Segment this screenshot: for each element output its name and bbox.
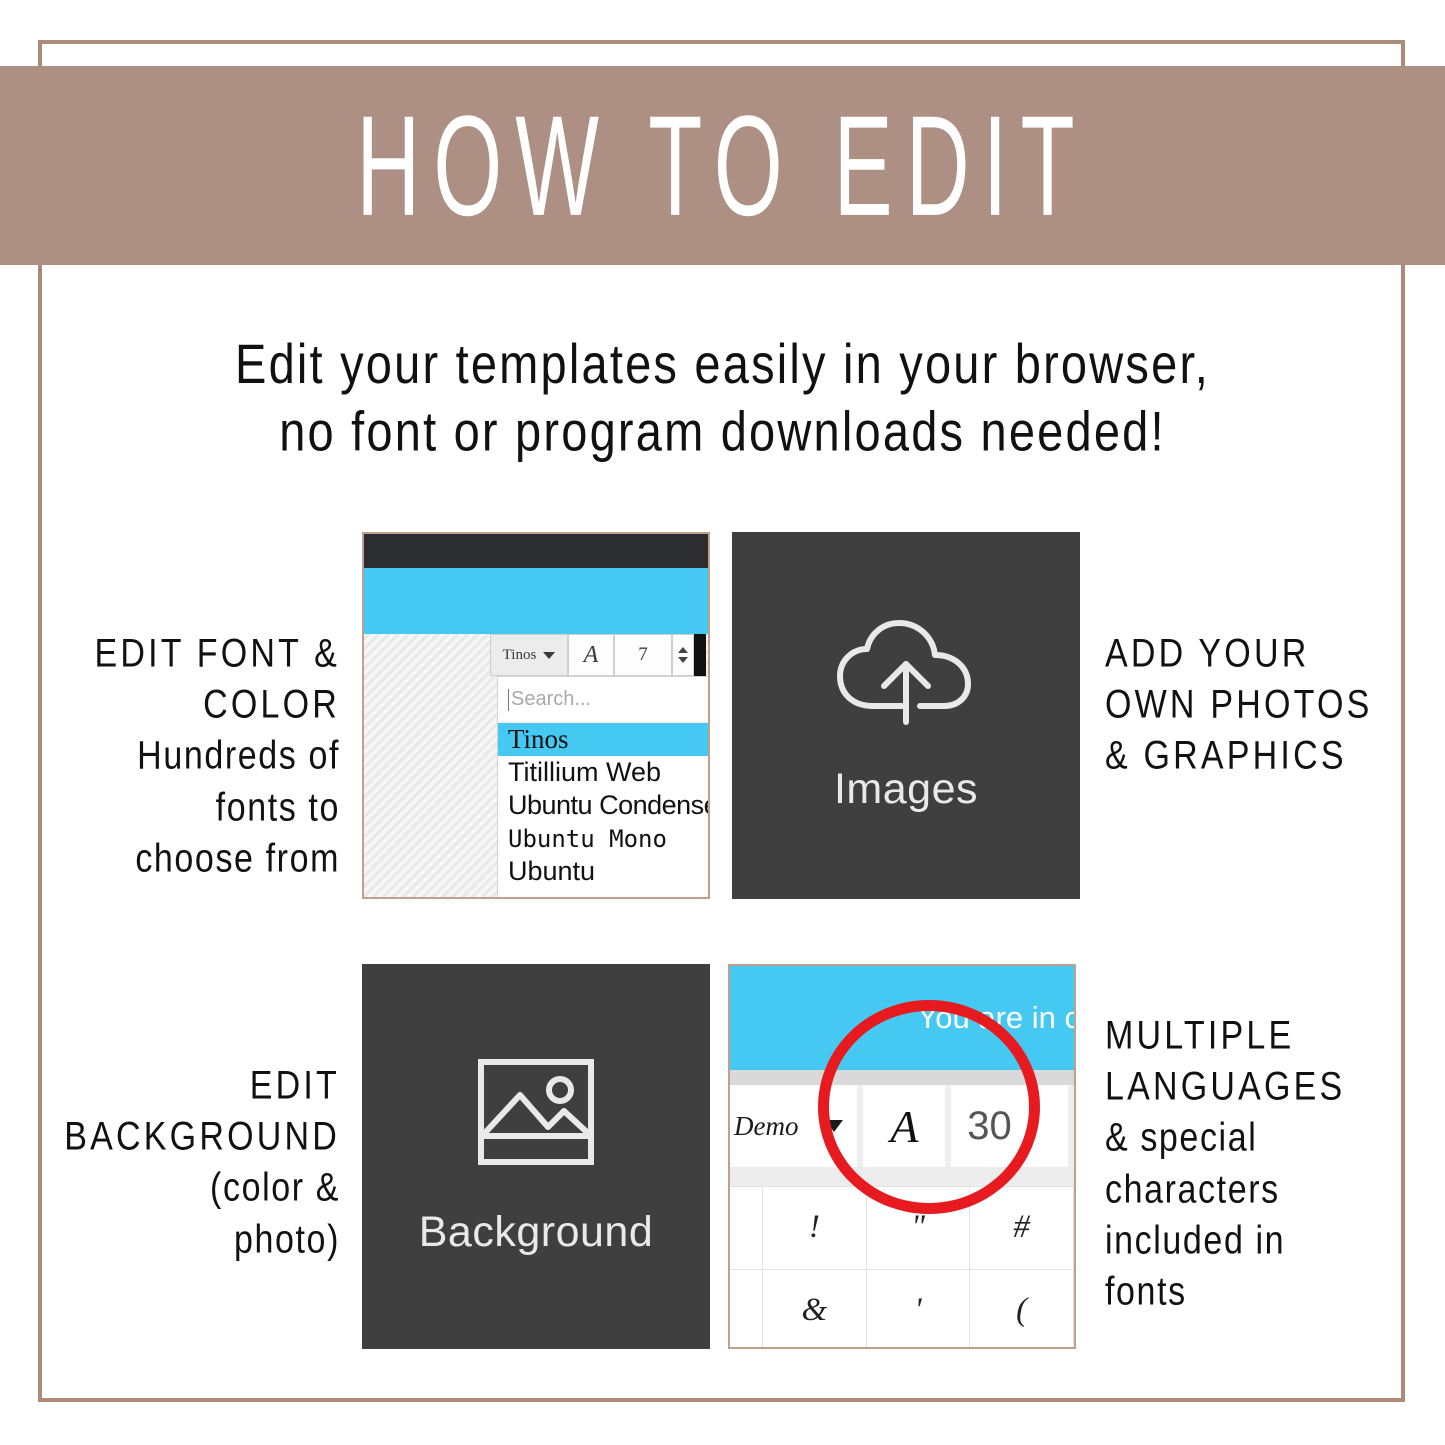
screenshot-background-card[interactable]: Background bbox=[362, 964, 710, 1349]
font-name-dropdown[interactable]: Tinos bbox=[490, 634, 568, 676]
intro-paragraph: Edit your templates easily in your brows… bbox=[0, 330, 1445, 465]
caption-edit-bg-line-4: photo) bbox=[10, 1214, 340, 1265]
font-search-placeholder: Search... bbox=[511, 688, 591, 711]
images-card-label: Images bbox=[834, 765, 978, 814]
font-search-input[interactable]: Search... bbox=[498, 677, 710, 723]
caption-edit-font-line-1: EDIT FONT & bbox=[20, 628, 340, 679]
caption-edit-font-color: EDIT FONT & COLOR Hundreds of fonts to c… bbox=[20, 628, 340, 884]
font-name-label: Tinos bbox=[503, 647, 537, 664]
caption-edit-background: EDIT BACKGROUND (color & photo) bbox=[10, 1060, 340, 1265]
picture-icon bbox=[476, 1057, 596, 1172]
font-style-icon[interactable]: A bbox=[568, 634, 614, 676]
font-dropdown-list[interactable]: Search... Tinos Titillium Web Ubuntu Con… bbox=[497, 676, 710, 899]
caption-lang-line-1: MULTIPLE bbox=[1105, 1010, 1440, 1061]
caption-add-photos-line-3: & GRAPHICS bbox=[1105, 731, 1435, 782]
char-cell-ampersand[interactable]: & bbox=[763, 1270, 867, 1350]
screenshot-font-picker: Tinos A 7 Search... Tinos Titillium Web … bbox=[362, 532, 710, 899]
chevron-down-icon bbox=[543, 652, 555, 659]
char-cell-hash[interactable]: # bbox=[970, 1187, 1074, 1269]
editor-blue-banner bbox=[364, 568, 708, 634]
font-size-stepper[interactable] bbox=[672, 634, 694, 676]
font-option-titillium-web[interactable]: Titillium Web bbox=[498, 756, 710, 789]
caption-add-photos-line-1: ADD YOUR bbox=[1105, 628, 1435, 679]
screenshot-images-card[interactable]: Images bbox=[732, 532, 1080, 899]
page-title: HOW TO EDIT bbox=[357, 94, 1088, 237]
char-cell[interactable] bbox=[730, 1187, 763, 1269]
intro-line-2: no font or program downloads needed! bbox=[0, 398, 1445, 466]
font-option-ubuntu-mono[interactable]: Ubuntu Mono bbox=[498, 822, 710, 855]
caption-edit-font-line-4: fonts to bbox=[20, 782, 340, 833]
stepper-up-icon[interactable] bbox=[678, 647, 688, 653]
font-option-ubuntu-condensed[interactable]: Ubuntu Condensed bbox=[498, 789, 710, 822]
color-swatch-black[interactable] bbox=[694, 634, 706, 676]
highlight-circle-annotation bbox=[818, 1000, 1040, 1214]
char-cell-apostrophe[interactable]: ' bbox=[867, 1270, 971, 1350]
chars-font-name-label: Demo bbox=[734, 1111, 798, 1142]
header-banner: HOW TO EDIT bbox=[0, 66, 1445, 265]
font-option-ubuntu[interactable]: Ubuntu bbox=[498, 855, 710, 888]
caption-edit-bg-line-3: (color & bbox=[10, 1163, 340, 1214]
intro-line-1: Edit your templates easily in your brows… bbox=[0, 330, 1445, 398]
stepper-down-icon[interactable] bbox=[678, 657, 688, 663]
caption-edit-bg-line-1: EDIT bbox=[10, 1060, 340, 1111]
caption-edit-font-line-5: choose from bbox=[20, 833, 340, 884]
font-toolbar: Tinos A 7 bbox=[490, 634, 710, 676]
caption-edit-bg-line-2: BACKGROUND bbox=[10, 1111, 340, 1162]
background-card-label: Background bbox=[419, 1208, 654, 1257]
caption-lang-line-5: included in bbox=[1105, 1215, 1440, 1266]
caption-lang-line-3: & special bbox=[1105, 1113, 1440, 1164]
text-caret bbox=[508, 689, 509, 711]
caption-lang-line-6: fonts bbox=[1105, 1266, 1440, 1317]
char-cell[interactable] bbox=[730, 1270, 763, 1350]
font-size-input[interactable]: 7 bbox=[614, 634, 672, 676]
caption-add-photos-line-2: OWN PHOTOS bbox=[1105, 679, 1435, 730]
editor-titlebar bbox=[364, 534, 708, 568]
caption-multiple-languages: MULTIPLE LANGUAGES & special characters … bbox=[1105, 1010, 1440, 1318]
caption-edit-font-line-2: COLOR bbox=[20, 679, 340, 730]
caption-lang-line-4: characters bbox=[1105, 1164, 1440, 1215]
char-row: & ' ( bbox=[730, 1269, 1074, 1350]
cloud-upload-icon bbox=[832, 618, 980, 731]
caption-lang-line-2: LANGUAGES bbox=[1105, 1061, 1440, 1112]
char-cell-paren[interactable]: ( bbox=[970, 1270, 1074, 1350]
char-cell-exclam[interactable]: ! bbox=[763, 1187, 867, 1269]
font-option-tinos[interactable]: Tinos bbox=[498, 723, 710, 756]
caption-edit-font-line-3: Hundreds of bbox=[20, 731, 340, 782]
caption-add-photos: ADD YOUR OWN PHOTOS & GRAPHICS bbox=[1105, 628, 1435, 782]
